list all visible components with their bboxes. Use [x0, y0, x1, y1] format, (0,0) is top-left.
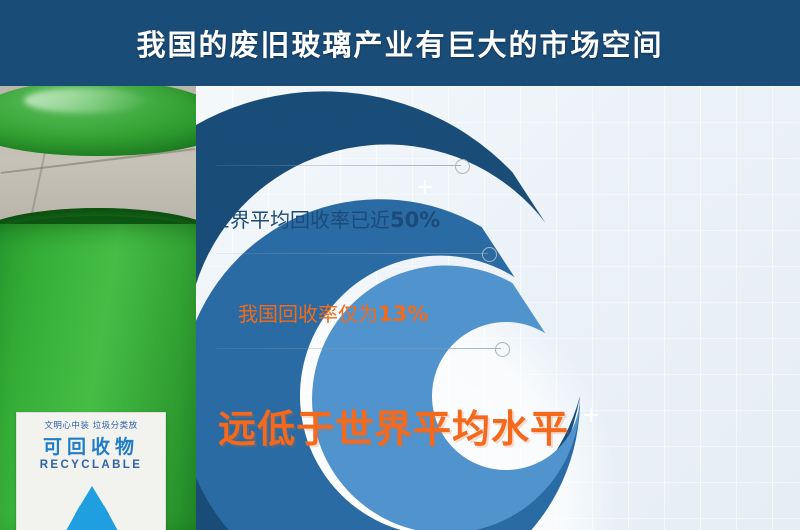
connector-dot-germany [455, 159, 470, 174]
bin-label: 文明心中装 垃圾分类放 可回收物 RECYCLABLE [16, 412, 166, 530]
recycling-bin-photo: 文明心中装 垃圾分类放 可回收物 RECYCLABLE [0, 86, 196, 530]
header-bar: 我国的废旧玻璃产业有巨大的市场空间 [0, 0, 800, 86]
bin-lid [0, 86, 196, 156]
bin-label-slogan: 文明心中装 垃圾分类放 [17, 419, 165, 431]
conclusion-headline: 远低于世界平均水平 [218, 398, 569, 453]
stat-rows: 德国回收率高达97% 世界平均回收率已近50% 我国回收率仅为13% [196, 86, 800, 530]
bin-label-category-en: RECYCLABLE [17, 459, 165, 471]
page-title: 我国的废旧玻璃产业有巨大的市场空间 [136, 22, 663, 64]
lid-highlight [24, 88, 145, 114]
leader-line-world [216, 253, 488, 254]
stat-label-china: 我国回收率仅为13% [238, 298, 428, 327]
bin-label-category: 可回收物 [17, 432, 165, 459]
stat-label-germany: 德国回收率高达97% [226, 116, 416, 145]
leader-line-germany [216, 165, 461, 166]
connector-dot-china [495, 342, 510, 357]
recycle-symbol-icon [17, 474, 165, 530]
leader-line-china [216, 348, 501, 349]
connector-dot-world [482, 247, 497, 262]
infographic-poster: 我国的废旧玻璃产业有巨大的市场空间 文明心中装 垃圾分类放 可回收物 RECYC… [0, 0, 800, 530]
stat-label-world: 世界平均回收率已近50% [210, 204, 440, 233]
